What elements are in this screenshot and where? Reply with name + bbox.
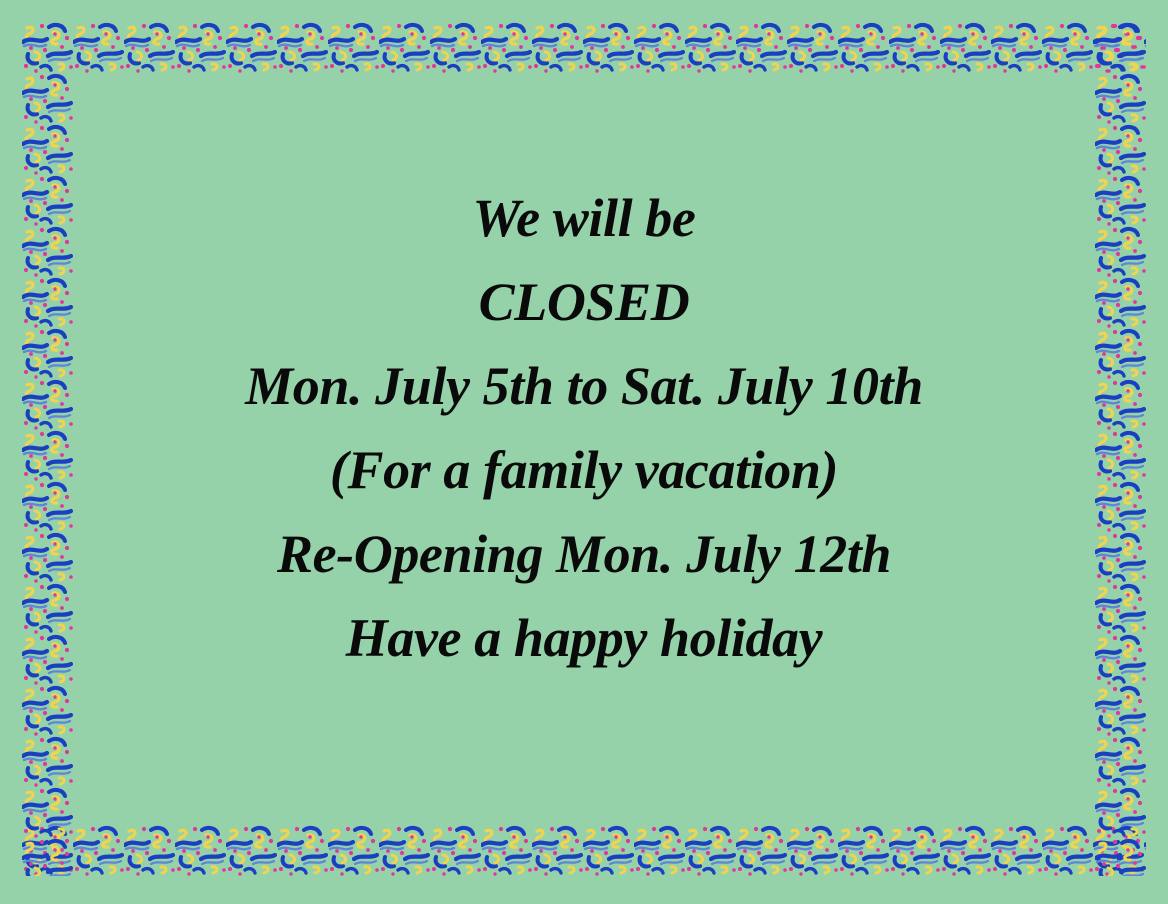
message-line-4: (For a family vacation) — [90, 428, 1078, 512]
confetti-pattern-icon — [22, 825, 1146, 876]
confetti-pattern-icon — [22, 22, 1146, 73]
message-line-1: We will be — [90, 176, 1078, 260]
confetti-pattern-icon — [1095, 22, 1146, 876]
message-line-5: Re-Opening Mon. July 12th — [90, 512, 1078, 596]
closed-sign-poster: We will be CLOSED Mon. July 5th to Sat. … — [0, 0, 1168, 904]
message-line-6: Have a happy holiday — [90, 596, 1078, 680]
confetti-pattern-icon — [22, 22, 73, 876]
sign-message: We will be CLOSED Mon. July 5th to Sat. … — [90, 176, 1078, 680]
border-band-top — [22, 22, 1146, 73]
border-band-right — [1095, 22, 1146, 876]
border-band-bottom — [22, 825, 1146, 876]
border-band-left — [22, 22, 73, 876]
message-line-3: Mon. July 5th to Sat. July 10th — [90, 344, 1078, 428]
message-line-2: CLOSED — [90, 260, 1078, 344]
